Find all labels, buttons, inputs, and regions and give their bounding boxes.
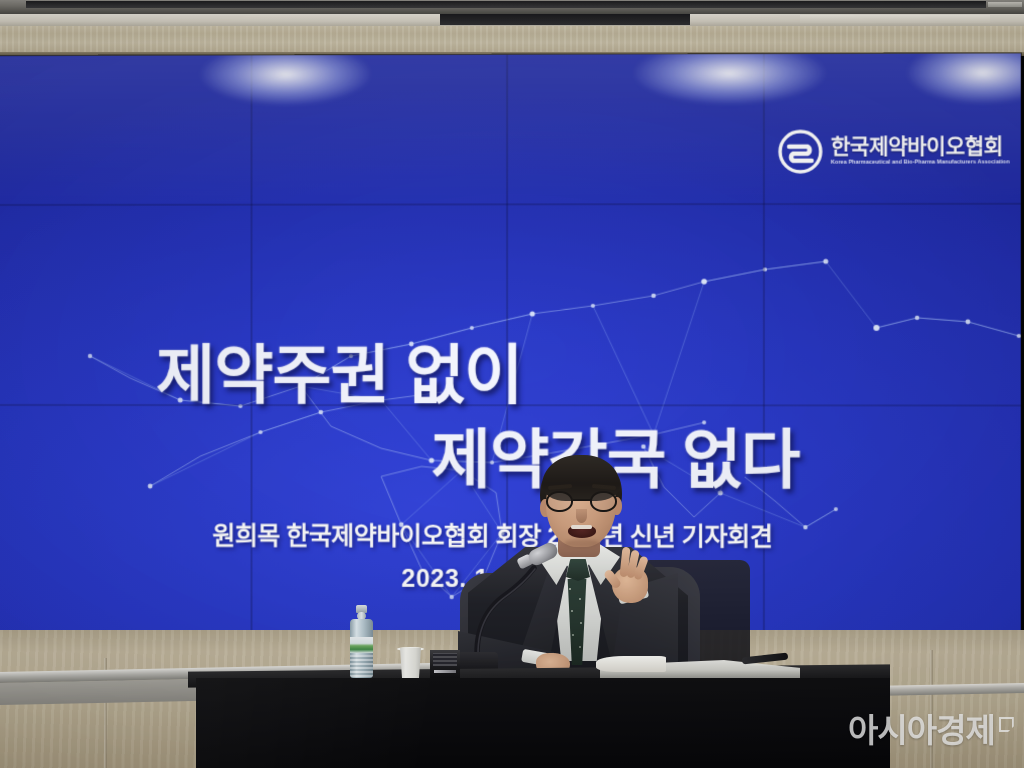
press-table-skirt <box>196 678 890 768</box>
gooseneck-microphone <box>452 540 572 680</box>
glasses-bridge <box>573 499 591 501</box>
document-papers-stack <box>596 656 666 672</box>
bottle-ribs <box>350 655 373 678</box>
water-bottle <box>348 605 375 678</box>
ceiling-vent-right <box>800 15 990 23</box>
bottle-label <box>350 637 373 653</box>
asiae-logo-mark-icon <box>999 717 1014 732</box>
audio-device <box>430 650 460 678</box>
press-conference-photo: 한국제약바이오협회 Korea Pharmaceutical and Bio-P… <box>0 0 1024 768</box>
ceiling-panel <box>0 0 1024 14</box>
watermark: 아시아경제 <box>848 714 1014 747</box>
kpbma-name-en: Korea Pharmaceutical and Bio-Pharma Manu… <box>831 161 1010 167</box>
glasses-lens-left <box>546 491 573 512</box>
kpbma-circle-logo-icon <box>777 128 824 174</box>
audio-device-grille <box>433 653 457 666</box>
grey-wall-panel <box>0 679 210 705</box>
ceiling-panel-edge <box>988 2 1022 7</box>
nose <box>576 509 587 523</box>
glasses-lens-right <box>590 491 617 512</box>
teeth <box>571 525 592 529</box>
panel-seam-vertical <box>763 54 765 638</box>
paper-cup <box>398 648 423 678</box>
hand-right-gesturing <box>606 547 652 605</box>
kpbma-logo: 한국제약바이오협회 Korea Pharmaceutical and Bio-P… <box>777 128 1010 175</box>
panel-seam-vertical <box>250 55 252 636</box>
kpbma-name-kr: 한국제약바이오협회 <box>831 136 1010 157</box>
audio-device-panel <box>434 670 456 673</box>
wood-panel-seam <box>930 650 933 768</box>
ceiling-track-light <box>26 1 986 8</box>
watermark-text: 아시아경제 <box>848 714 995 747</box>
ceiling-vent <box>440 14 690 25</box>
